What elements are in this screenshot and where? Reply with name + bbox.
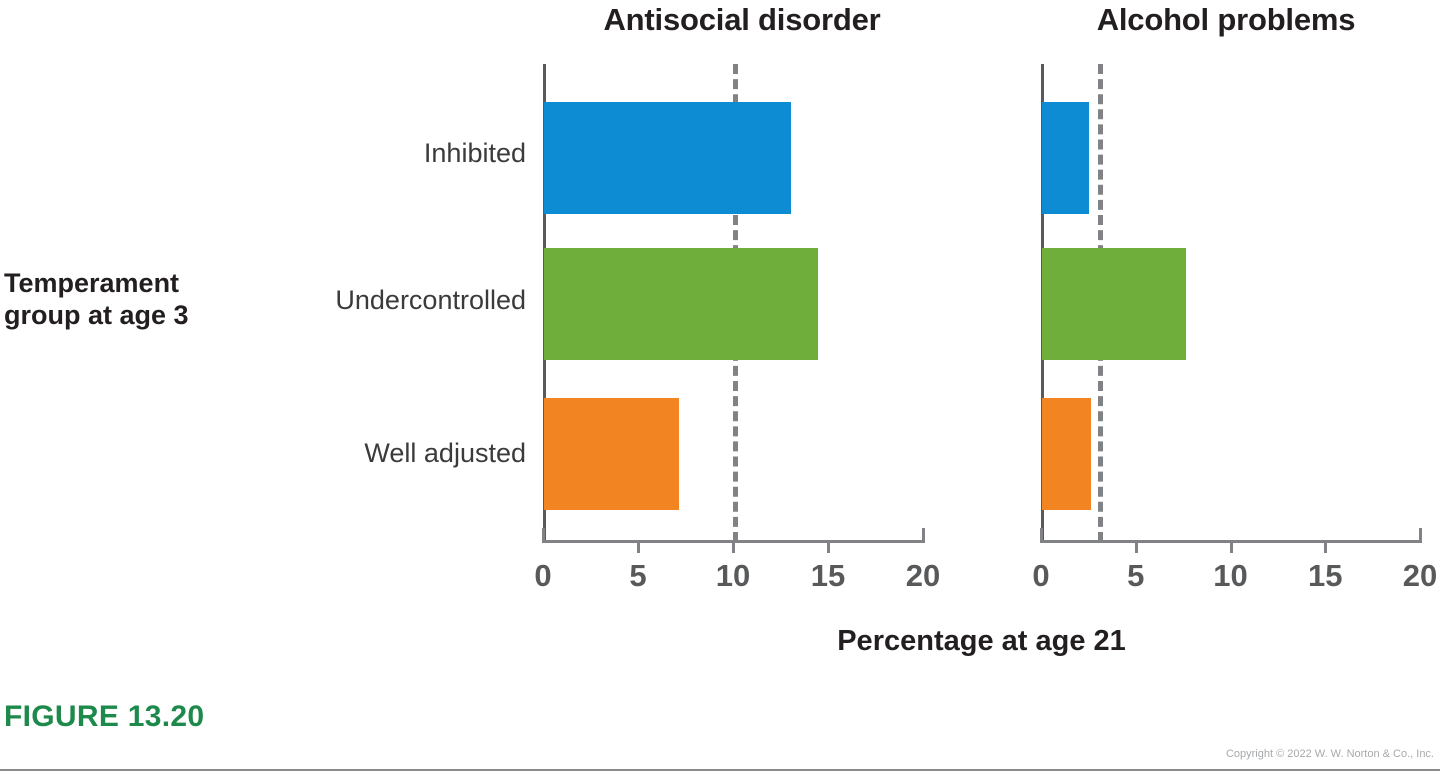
x-axis-tick-label: 5 [629,558,646,594]
bar-undercontrolled [544,248,818,360]
x-axis-tick [732,540,735,553]
x-axis-tick-label: 20 [906,558,940,594]
panel-title-antisocial-disorder: Antisocial disorder [537,2,947,38]
plot-panel-alcohol-problems: 05101520 [1041,64,1420,544]
x-axis-tick [1230,540,1233,553]
x-axis-tick [827,540,830,553]
x-axis-tick-label: 15 [811,558,845,594]
category-label-inhibited: Inhibited [256,138,526,169]
category-label-undercontrolled: Undercontrolled [256,285,526,316]
x-axis-tick-label: 10 [716,558,750,594]
x-axis-tick-label: 20 [1403,558,1437,594]
x-axis-tick [922,528,925,543]
x-axis-tick-label: 0 [1032,558,1049,594]
x-axis-tick [1040,528,1043,543]
x-axis-tick-label: 10 [1213,558,1247,594]
x-axis-tick [1135,540,1138,553]
x-axis-tick-label: 0 [534,558,551,594]
bar-inhibited [544,102,791,214]
figure-number-label: FIGURE 13.20 [4,700,204,734]
category-label-group: Inhibited Undercontrolled Well adjusted [250,0,526,560]
bar-well-adjusted [1042,398,1091,510]
x-axis-tick [542,528,545,543]
panel-title-alcohol-problems: Alcohol problems [1036,2,1416,38]
x-axis-tick [637,540,640,553]
bar-inhibited [1042,102,1089,214]
figure-root: Antisocial disorder Alcohol problems Tem… [0,0,1440,774]
bar-undercontrolled [1042,248,1186,360]
x-axis-tick-label: 5 [1127,558,1144,594]
copyright-notice: Copyright © 2022 W. W. Norton & Co., Inc… [1226,748,1434,760]
footer-divider [0,769,1440,771]
x-axis-tick-label: 15 [1308,558,1342,594]
category-label-well-adjusted: Well adjusted [256,438,526,469]
x-axis-tick [1419,528,1422,543]
y-axis-title: Temperament group at age 3 [4,268,254,332]
plot-panel-antisocial-disorder: 05101520 [543,64,923,544]
x-axis-tick [1324,540,1327,553]
x-axis-title: Percentage at age 21 [543,625,1420,658]
bar-well-adjusted [544,398,679,510]
